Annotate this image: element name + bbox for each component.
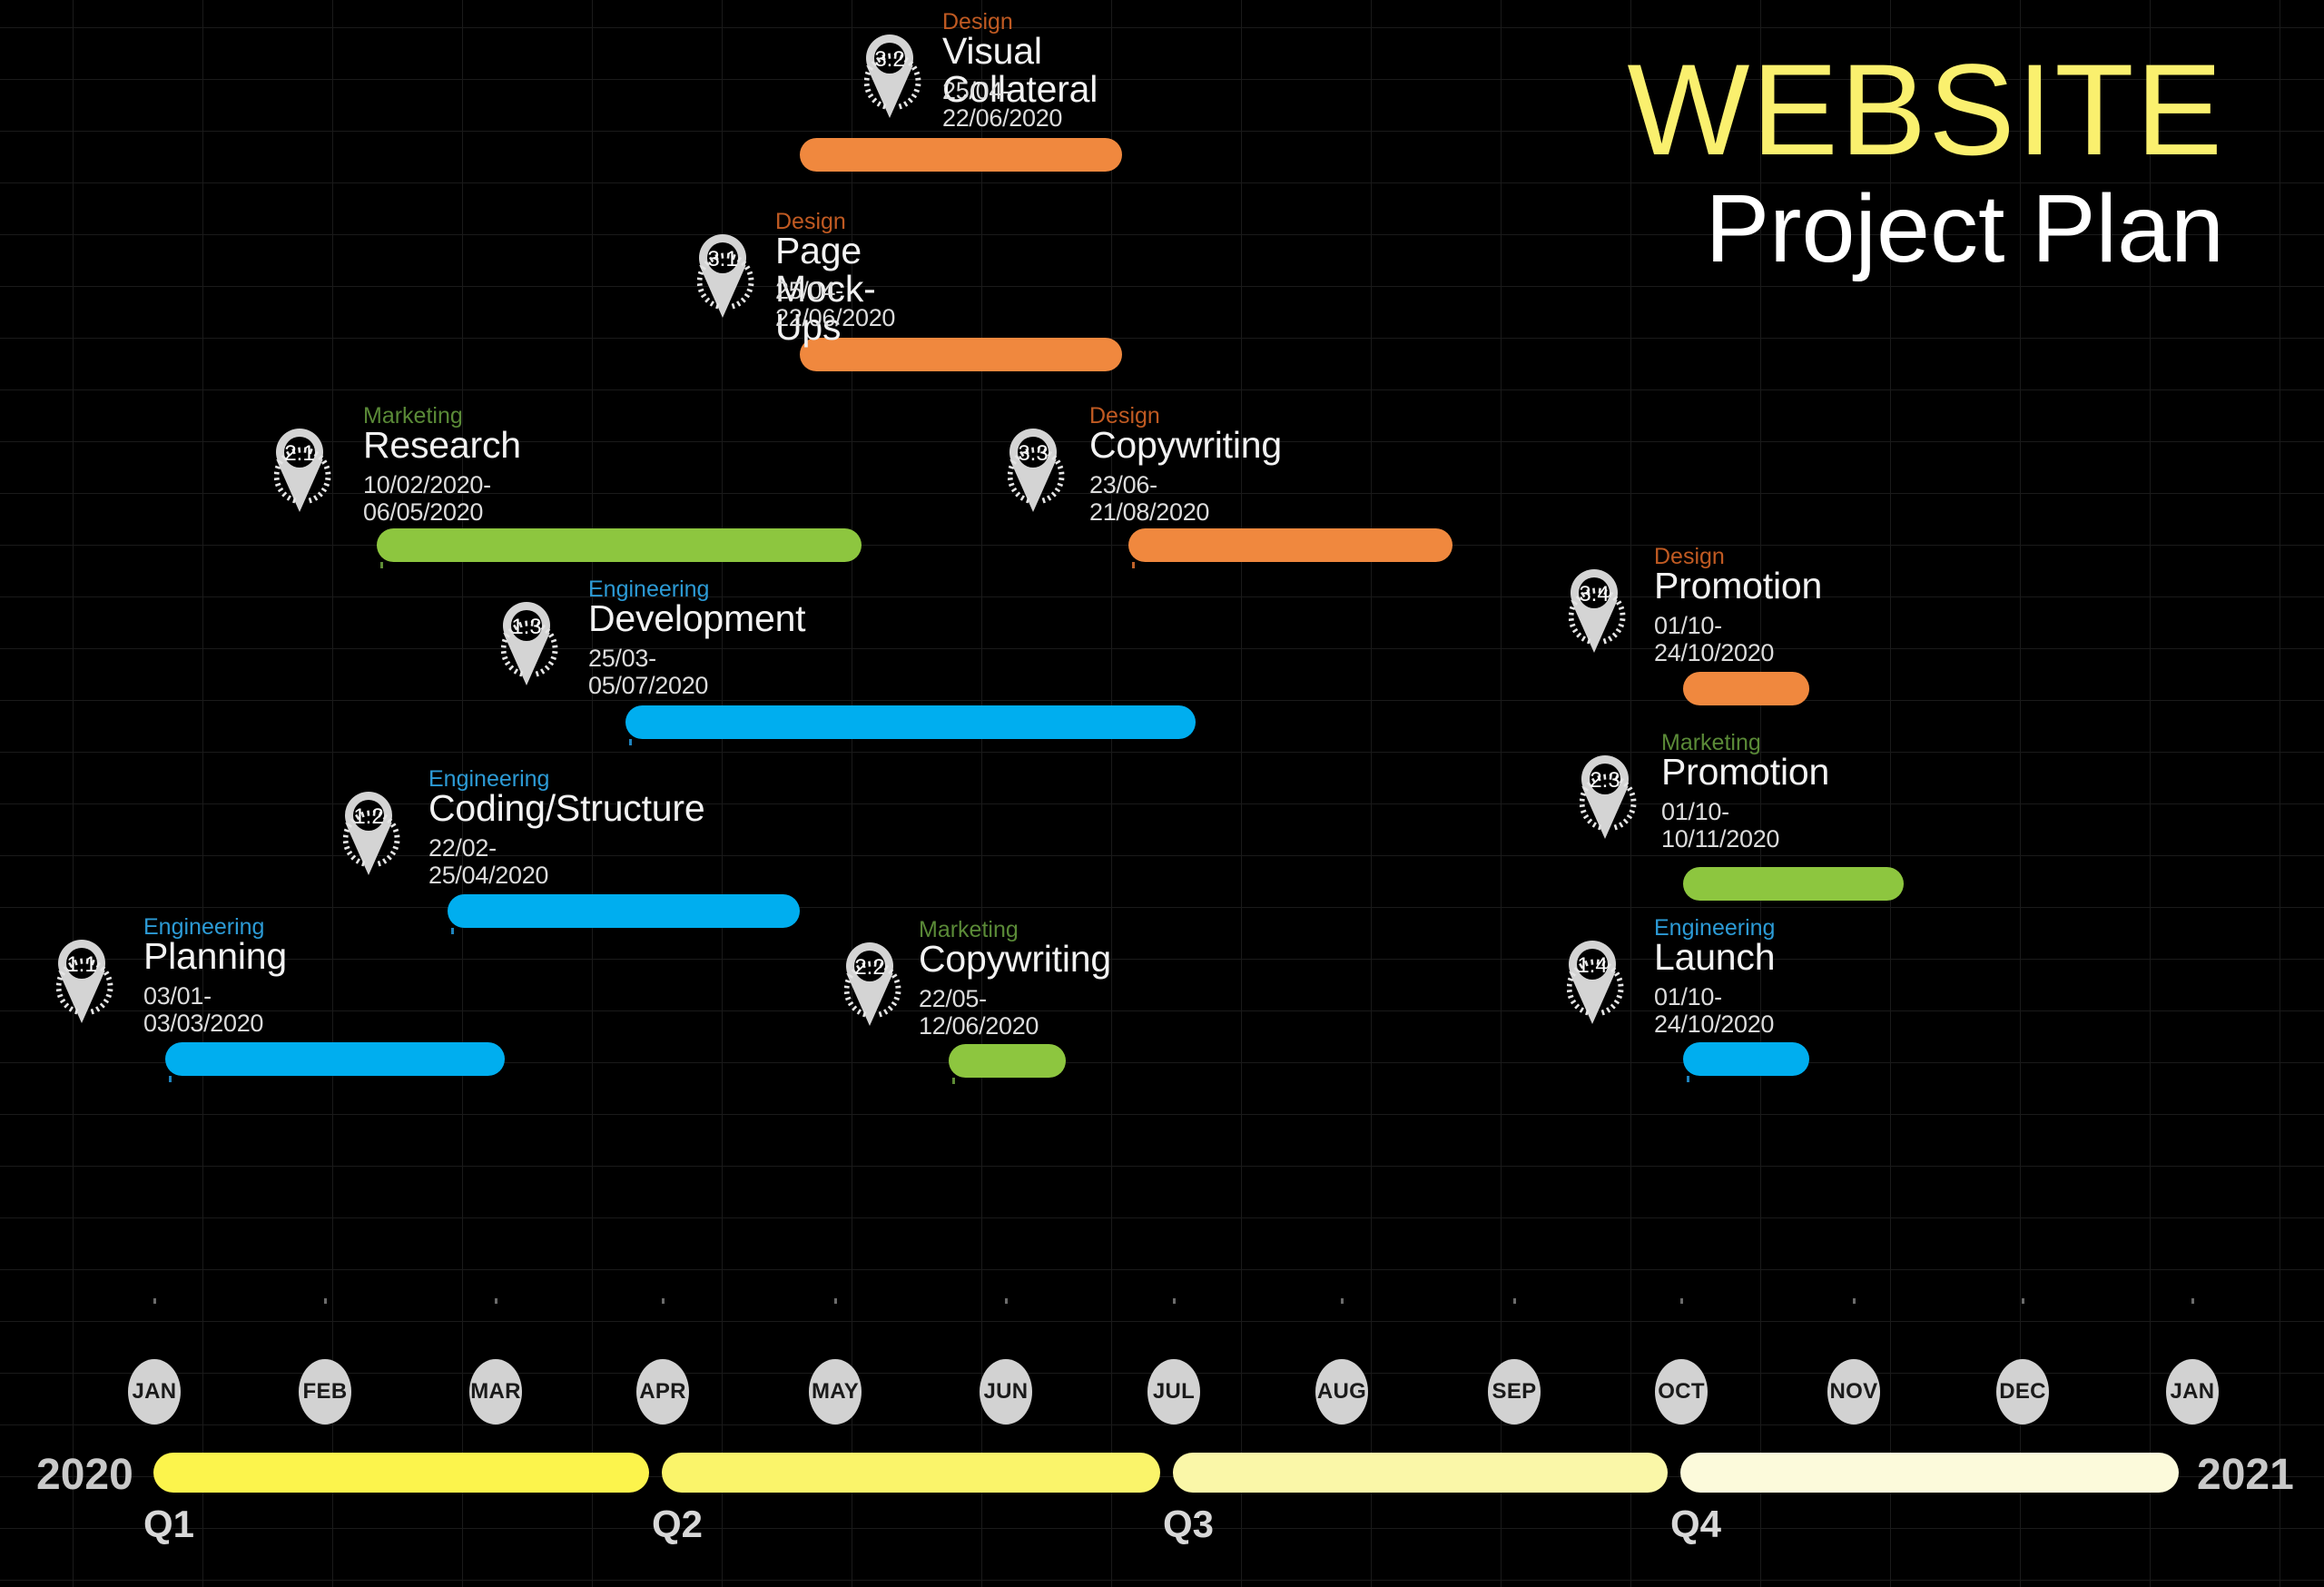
quarter-bar-q1[interactable] [153,1453,649,1493]
task-name-label: Promotion [1654,567,1822,606]
month-pill-mar-2[interactable]: MAR [469,1359,522,1424]
grid-line-horizontal [0,648,2324,649]
gantt-bar-2.1[interactable] [377,528,861,562]
task-date-label: 25/03-05/07/2020 [588,646,708,699]
month-tick [662,1298,665,1345]
task-connector-line [1132,562,1135,1298]
task-id-label: 3.4 [1569,582,1620,607]
task-id-label: 2.3 [1580,768,1630,793]
month-pill-may-4[interactable]: MAY [809,1359,862,1424]
task-name-label: Development [588,600,805,638]
grid-line-horizontal [0,286,2324,287]
quarter-label-q1: Q1 [143,1503,194,1546]
task-name-label: Promotion [1661,754,1829,792]
gantt-bar-1.1[interactable] [165,1042,505,1076]
month-pill-oct-9[interactable]: OCT [1655,1359,1708,1424]
task-pin-2.1[interactable]: 2.1 [274,429,338,516]
task-date-label: 03/01-03/03/2020 [143,983,263,1037]
gantt-bar-3.2[interactable] [800,138,1122,172]
month-pill-jan-0[interactable]: JAN [128,1359,181,1424]
month-tick [1173,1298,1176,1345]
grid-line-vertical [2280,0,2280,1587]
page-title: WEBSITE Project Plan [1627,45,2224,283]
task-pin-1.2[interactable]: 1.2 [343,792,407,879]
grid-line-horizontal [0,1321,2324,1322]
task-pin-1.3[interactable]: 1.3 [501,602,565,689]
gantt-bar-1.4[interactable] [1683,1042,1809,1076]
task-date-label: 01/10-24/10/2020 [1654,613,1774,666]
task-name-label: Copywriting [919,941,1111,979]
task-pin-2.3[interactable]: 2.3 [1580,755,1643,843]
task-pin-1.4[interactable]: 1.4 [1567,941,1630,1028]
grid-line-horizontal [0,1166,2324,1167]
grid-line-vertical [1241,0,1242,1587]
task-pin-1.1[interactable]: 1.1 [56,940,120,1027]
title-main: WEBSITE [1627,45,2224,175]
month-tick [2022,1298,2024,1345]
task-pin-3.2[interactable]: 3.2 [864,34,928,122]
grid-line-horizontal [0,1114,2324,1115]
quarter-bar-q2[interactable] [662,1453,1160,1493]
month-tick [1341,1298,1344,1345]
quarter-bar-q3[interactable] [1173,1453,1668,1493]
task-date-label: 22/02-25/04/2020 [428,835,548,889]
task-pin-3.3[interactable]: 3.3 [1008,429,1071,516]
grid-line-horizontal [0,389,2324,390]
task-date-label: 25/04-22/06/2020 [942,78,1062,132]
grid-line-horizontal [0,1010,2324,1011]
month-tick [324,1298,327,1345]
grid-line-horizontal [0,959,2324,960]
task-connector-line [169,1076,172,1307]
quarter-label-q4: Q4 [1670,1503,1721,1546]
grid-line-horizontal [0,27,2324,28]
grid-line-horizontal [0,700,2324,701]
task-connector-line [952,1078,955,1307]
gantt-bar-2.2[interactable] [949,1044,1066,1078]
task-id-label: 1.3 [501,615,552,640]
gantt-bar-3.4[interactable] [1683,672,1809,705]
grid-line-vertical [73,0,74,1587]
month-tick [834,1298,837,1345]
month-pill-dec-11[interactable]: DEC [1996,1359,2049,1424]
month-pill-jun-5[interactable]: JUN [980,1359,1032,1424]
task-date-label: 01/10-24/10/2020 [1654,984,1774,1038]
gantt-bar-1.3[interactable] [625,705,1196,739]
task-pin-3.1[interactable]: 3.1 [697,234,761,321]
task-pin-3.4[interactable]: 3.4 [1569,569,1632,656]
task-connector-line [1687,1076,1689,1298]
month-pill-aug-7[interactable]: AUG [1315,1359,1368,1424]
task-pin-2.2[interactable]: 2.2 [844,942,908,1030]
year-label-start: 2020 [36,1450,133,1500]
grid-line-horizontal [0,907,2324,908]
grid-line-vertical [1371,0,1372,1587]
task-id-label: 3.1 [697,247,748,272]
grid-line-vertical [202,0,203,1587]
month-pill-apr-3[interactable]: APR [636,1359,689,1424]
task-name-label: Copywriting [1089,427,1282,465]
task-id-label: 1.1 [56,952,107,978]
quarter-label-q2: Q2 [652,1503,703,1546]
month-pill-feb-1[interactable]: FEB [299,1359,351,1424]
year-label-end: 2021 [2197,1450,2294,1500]
task-id-label: 3.2 [864,47,915,73]
month-tick [1680,1298,1683,1345]
grid-line-vertical [1111,0,1112,1587]
grid-line-horizontal [0,1217,2324,1218]
month-tick [2191,1298,2194,1345]
month-tick [1513,1298,1516,1345]
task-date-label: 25/04-22/06/2020 [775,278,895,331]
gantt-chart-canvas: WEBSITE Project Plan 3.2DesignVisual Col… [0,0,2324,1587]
month-pill-jan-12[interactable]: JAN [2166,1359,2219,1424]
grid-line-vertical [1501,0,1502,1587]
task-date-label: 01/10-10/11/2020 [1661,799,1779,853]
month-tick [1005,1298,1008,1345]
gantt-bar-1.2[interactable] [448,894,800,928]
month-tick [153,1298,156,1345]
grid-line-horizontal [0,338,2324,339]
grid-line-horizontal [0,752,2324,753]
task-date-label: 23/06-21/08/2020 [1089,472,1209,526]
task-name-label: Launch [1654,939,1775,977]
task-name-label: Planning [143,938,287,976]
task-date-label: 10/02/2020-06/05/2020 [363,472,495,526]
quarter-label-q3: Q3 [1163,1503,1214,1546]
task-name-label: Coding/Structure [428,790,583,828]
month-pill-jul-6[interactable]: JUL [1147,1359,1200,1424]
month-pill-sep-8[interactable]: SEP [1488,1359,1541,1424]
task-id-label: 2.1 [274,441,325,467]
grid-line-horizontal [0,1528,2324,1529]
task-connector-line [380,562,383,1321]
task-connector-line [451,928,454,1307]
title-subtitle: Project Plan [1627,175,2224,283]
task-date-label: 22/05-12/06/2020 [919,986,1039,1040]
month-tick [1853,1298,1856,1345]
grid-line-horizontal [0,1424,2324,1425]
grid-line-vertical [981,0,982,1587]
task-id-label: 2.2 [844,955,895,981]
grid-line-horizontal [0,596,2324,597]
task-id-label: 1.2 [343,804,394,830]
task-id-label: 3.3 [1008,441,1059,467]
grid-line-horizontal [0,1269,2324,1270]
month-pill-nov-10[interactable]: NOV [1827,1359,1880,1424]
task-id-label: 1.4 [1567,953,1618,979]
task-name-label: Research [363,427,521,465]
quarter-bar-q4[interactable] [1680,1453,2179,1493]
month-tick [495,1298,497,1345]
gantt-bar-3.3[interactable] [1128,528,1453,562]
grid-line-horizontal [0,1580,2324,1581]
gantt-bar-2.3[interactable] [1683,867,1904,901]
grid-line-vertical [332,0,333,1587]
